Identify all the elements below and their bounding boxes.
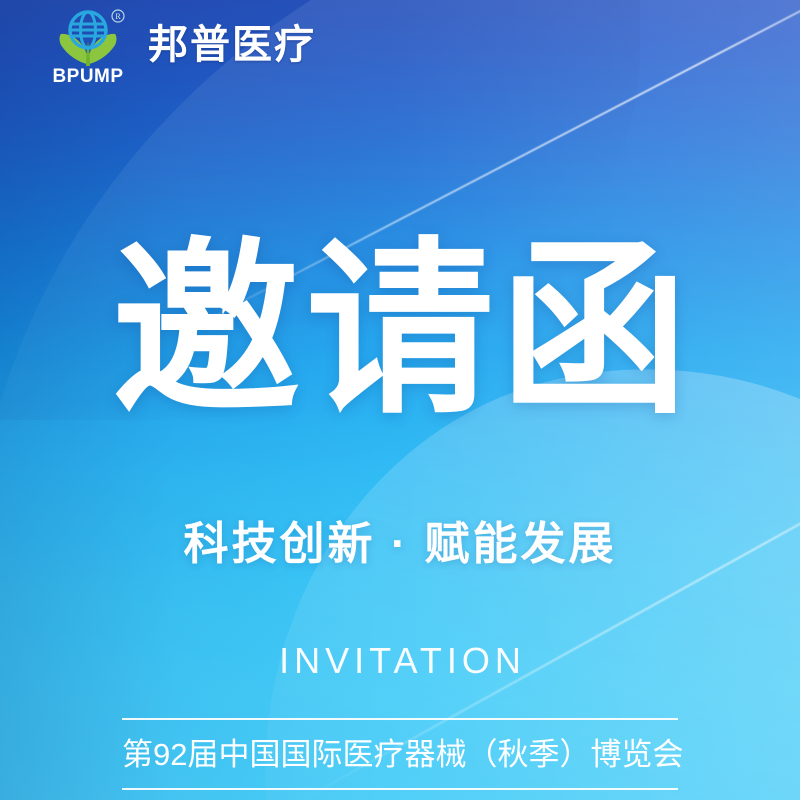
svg-text:BPUMP: BPUMP <box>52 66 123 86</box>
brand-lockup: R BPUMP 邦普医疗 <box>46 8 316 86</box>
invitation-poster: R BPUMP 邦普医疗 邀请函 科技创新 · 赋能发展 INVITATION … <box>0 0 800 800</box>
svg-text:R: R <box>115 12 121 21</box>
footer-divider-bottom <box>122 788 678 790</box>
subtitle-slogan: 科技创新 · 赋能发展 <box>0 516 800 572</box>
page-title: 邀请函 <box>0 236 800 424</box>
globe-leaf-logo-icon: R BPUMP <box>46 8 130 86</box>
event-name: 第92届中国国际医疗器械（秋季）博览会 <box>122 720 678 788</box>
footer-block: 第92届中国国际医疗器械（秋季）博览会 <box>122 718 678 790</box>
english-title: INVITATION <box>0 643 800 679</box>
brand-name-cn: 邦普医疗 <box>148 25 316 69</box>
